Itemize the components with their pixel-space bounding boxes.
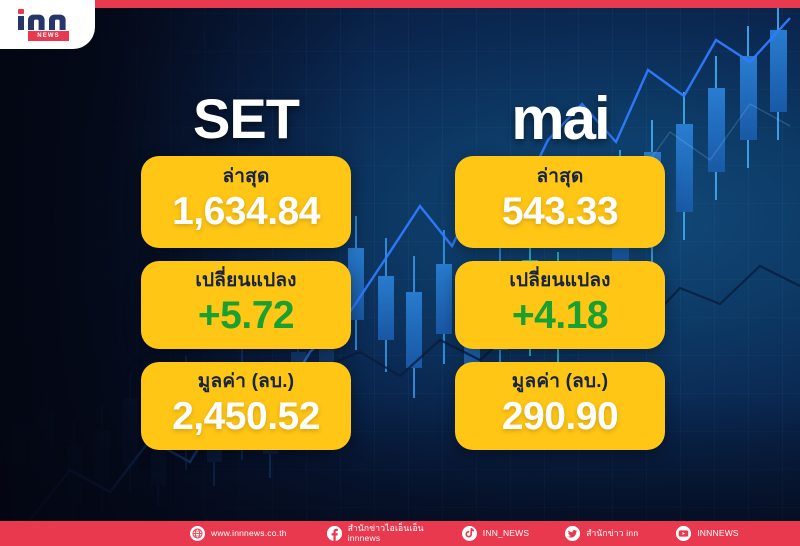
footer-social-bar: www.innnews.co.th สำนักข่าวไอเอ็นเอ็น in… — [0, 521, 800, 546]
set-value-amount: 2,450.52 — [147, 394, 345, 440]
mai-change-value: +4.18 — [461, 293, 659, 339]
footer-tiktok[interactable]: INN_NEWS — [462, 526, 529, 541]
mai-latest-value: 543.33 — [461, 189, 659, 235]
mai-latest-label: ล่าสุด — [461, 165, 659, 189]
footer-twitter[interactable]: สำนักข่าว inn — [565, 526, 638, 541]
inn-letters-icon — [17, 9, 79, 30]
facebook-icon — [327, 526, 342, 541]
mai-value-card: มูลค่า (ลบ.) 290.90 — [455, 362, 665, 450]
logo-wordmark — [17, 9, 79, 29]
background-vignette — [0, 0, 800, 546]
mai-value-label: มูลค่า (ลบ.) — [461, 370, 659, 394]
set-change-card: เปลี่ยนแปลง +5.72 — [141, 261, 351, 349]
footer-tiktok-label: INN_NEWS — [483, 529, 529, 539]
set-value-label: มูลค่า (ลบ.) — [147, 370, 345, 394]
footer-youtube-label: INNNEWS — [697, 529, 739, 539]
footer-facebook-label: สำนักข่าวไอเอ็นเอ็น innnews — [348, 524, 424, 543]
set-latest-value: 1,634.84 — [147, 189, 345, 235]
footer-facebook-line1: สำนักข่าวไอเอ็นเอ็น — [348, 523, 424, 533]
set-change-label: เปลี่ยนแปลง — [147, 269, 345, 293]
footer-facebook-line2: innnews — [348, 534, 424, 544]
tiktok-icon — [462, 526, 477, 541]
youtube-icon — [676, 526, 691, 541]
footer-website[interactable]: www.innnews.co.th — [190, 526, 287, 541]
set-value-card: มูลค่า (ลบ.) 2,450.52 — [141, 362, 351, 450]
index-panel-mai: mai ล่าสุด 543.33 เปลี่ยนแปลง +4.18 มูลค… — [455, 88, 665, 463]
top-accent-bar — [0, 0, 800, 8]
footer-youtube[interactable]: INNNEWS — [676, 526, 739, 541]
screenshot-stage: NEWS SET ล่าสุด 1,634.84 เปลี่ยนแปลง +5.… — [0, 0, 800, 546]
footer-facebook[interactable]: สำนักข่าวไอเอ็นเอ็น innnews — [327, 524, 424, 543]
footer-twitter-label: สำนักข่าว inn — [586, 529, 638, 539]
set-latest-card: ล่าสุด 1,634.84 — [141, 156, 351, 248]
mai-value-amount: 290.90 — [461, 394, 659, 440]
mai-change-card: เปลี่ยนแปลง +4.18 — [455, 261, 665, 349]
mai-latest-card: ล่าสุด 543.33 — [455, 156, 665, 248]
set-change-value: +5.72 — [147, 293, 345, 339]
footer-website-label: www.innnews.co.th — [211, 529, 287, 539]
twitter-icon — [565, 526, 580, 541]
logo-news-badge: NEWS — [28, 31, 69, 41]
index-title-set: SET — [141, 88, 351, 156]
globe-icon — [190, 526, 205, 541]
set-latest-label: ล่าสุด — [147, 165, 345, 189]
mai-change-label: เปลี่ยนแปลง — [461, 269, 659, 293]
index-title-mai: mai — [455, 88, 665, 156]
inn-news-logo: NEWS — [0, 0, 95, 49]
index-panel-set: SET ล่าสุด 1,634.84 เปลี่ยนแปลง +5.72 มู… — [141, 88, 351, 463]
